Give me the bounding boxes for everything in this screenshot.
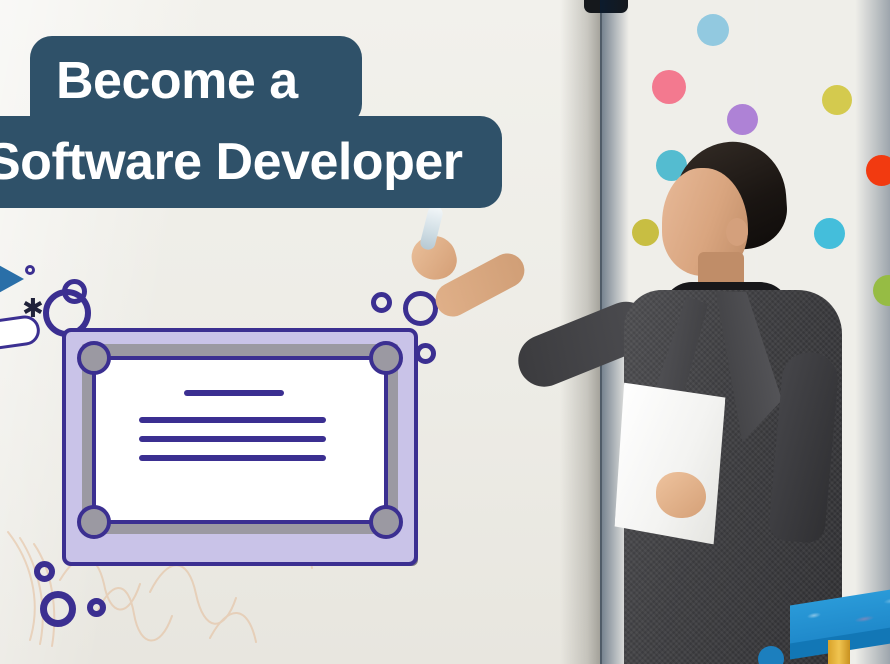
certificate-illustration	[62, 328, 418, 566]
certificate-paper	[92, 356, 388, 524]
certificate-corner-notch	[77, 505, 111, 539]
certificate-corner-notch	[369, 341, 403, 375]
title-line-1-text: Become a	[56, 55, 298, 107]
ring-icon	[415, 343, 436, 364]
title-banner-line-1: Become a	[30, 36, 362, 126]
title-banner-line-2: Software Developer	[0, 116, 502, 208]
ring-icon	[87, 598, 106, 617]
ring-icon	[34, 561, 55, 582]
ring-icon	[403, 291, 438, 326]
presenter-ear	[726, 218, 748, 246]
presenter-figure	[600, 0, 890, 664]
certificate-text-line	[139, 436, 326, 442]
certificate-text-line	[139, 417, 326, 423]
certificate-text-line	[184, 390, 284, 396]
asterisk-icon: ✱	[22, 296, 44, 322]
title-line-2-text: Software Developer	[0, 136, 463, 188]
presenter-paper-sheet	[614, 379, 726, 544]
presenter-hand-holding-paper	[656, 472, 706, 518]
certificate-corner-notch	[77, 341, 111, 375]
ring-icon	[40, 591, 76, 627]
poster-canvas: ✱	[0, 0, 890, 664]
blue-table-leg	[828, 640, 850, 664]
certificate-text-line	[139, 455, 326, 461]
certificate-corner-notch	[369, 505, 403, 539]
ring-icon	[62, 279, 87, 304]
ring-icon	[25, 265, 35, 275]
triangle-icon	[0, 258, 24, 300]
ring-icon	[371, 292, 392, 313]
